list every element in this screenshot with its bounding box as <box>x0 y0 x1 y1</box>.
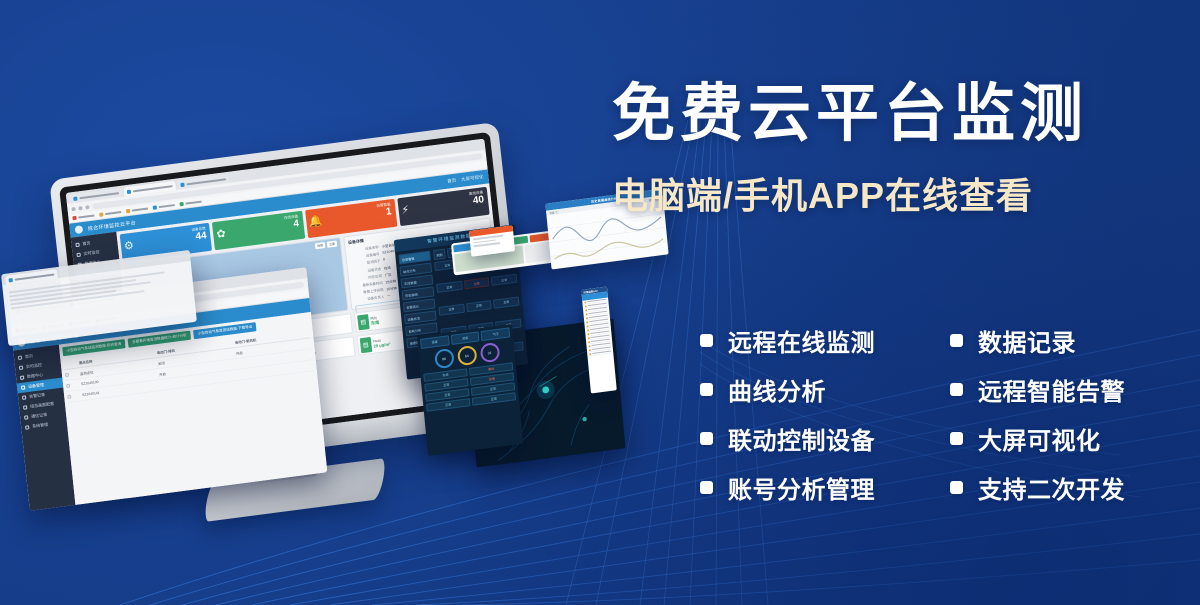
status-cell[interactable]: 正常 <box>438 303 464 315</box>
device-value: 东南 <box>371 319 380 326</box>
detail-value: 8 <box>383 258 385 263</box>
bookmark-item[interactable] <box>153 203 175 210</box>
sidebar-item-label: 实时监控 <box>26 362 42 370</box>
sidebar-item-label: 首页 <box>25 353 34 360</box>
tab-favicon-icon <box>73 196 77 200</box>
bullet-icon <box>700 432 713 445</box>
detail-value: — <box>387 293 391 298</box>
feature-label: 支持二次开发 <box>978 470 1125 505</box>
bookmark-item[interactable] <box>99 210 121 217</box>
map-toolbar[interactable]: 地图 卫星 <box>315 240 338 249</box>
stat-card-value: 1 <box>377 207 392 219</box>
row-checkbox[interactable] <box>65 373 69 377</box>
feature-item-curve-analysis: 曲线分析 <box>700 372 950 407</box>
device-mockup-scene: 综合环境监控云平台 首页 大屏可视化 首页 实时监控 <box>0 0 660 605</box>
bullet-icon <box>700 481 713 494</box>
gauge-status-grid: 在线 离线 正常 告警 正常 正常 正常 正常 <box>423 362 516 411</box>
status-cell[interactable]: 正常 <box>466 300 492 312</box>
status-cell[interactable]: 正常 <box>491 274 517 286</box>
feature-item-linkage-control: 联动控制设备 <box>700 421 950 456</box>
feature-item-data-logging: 数据记录 <box>950 323 1150 358</box>
leaf-icon: ✿ <box>216 228 226 241</box>
gauge-panel[interactable]: 温度 湿度 气压 86 64 31 在线 离线 正常 告警 正常 正常 正常 正… <box>417 324 524 456</box>
gauge-value: 64 <box>459 347 475 364</box>
bullet-icon <box>950 334 963 347</box>
map-mode-button[interactable]: 地图 <box>315 242 326 249</box>
tab-title-placeholder <box>186 178 226 185</box>
plug-icon: ⚡ <box>401 204 410 217</box>
refresh-button[interactable]: 刷新 <box>433 249 446 261</box>
feature-item-remote-alarm: 远程智能告警 <box>950 372 1150 407</box>
gauge-value: 31 <box>481 344 497 361</box>
database-icon <box>20 375 24 379</box>
feature-label: 曲线分析 <box>728 372 826 407</box>
row-checkbox[interactable] <box>67 395 71 399</box>
bookmark-item[interactable] <box>126 207 148 214</box>
sidebar-item-label: 系统管理 <box>32 422 48 430</box>
device-icon <box>21 385 25 389</box>
page-subtitle: 电脑端/手机APP在线查看 <box>612 167 1178 219</box>
gauge-tab[interactable]: 温度 <box>420 335 449 349</box>
bell-icon <box>22 395 26 399</box>
tab-title-placeholder <box>15 273 55 280</box>
sensor-icon: ▤ <box>357 314 370 330</box>
sidebar-item-label: 通信记录 <box>31 412 47 420</box>
tab-favicon-icon <box>127 189 131 193</box>
layout-icon <box>23 405 27 409</box>
feature-label: 大屏可视化 <box>978 421 1101 456</box>
bell-icon: 🔔 <box>308 215 323 229</box>
feature-item-account-management: 账号分析管理 <box>700 470 950 505</box>
stat-card-value: 44 <box>192 231 207 243</box>
feature-label: 账号分析管理 <box>728 470 875 505</box>
stat-card-value: 4 <box>284 219 299 231</box>
feature-label: 联动控制设备 <box>728 421 875 456</box>
forward-icon[interactable] <box>78 205 82 209</box>
feature-item-remote-monitoring: 远程在线监测 <box>700 323 950 358</box>
gauge-ring: 64 <box>456 345 477 366</box>
tab-title-placeholder <box>133 185 173 192</box>
home-icon <box>75 243 79 247</box>
log-icon <box>24 415 28 419</box>
status-cell-alarm[interactable]: 告警 <box>464 278 490 290</box>
feature-item-bigscreen-visualization: 大屏可视化 <box>950 421 1150 456</box>
bullet-icon <box>950 432 963 445</box>
feature-item-secondary-development: 支持二次开发 <box>950 470 1150 505</box>
gauge-tab[interactable]: 湿度 <box>450 331 479 345</box>
status-cell[interactable]: 正常 <box>436 281 462 293</box>
back-icon[interactable] <box>71 206 75 210</box>
bullet-icon <box>700 334 713 347</box>
tab-favicon-icon <box>8 277 12 281</box>
feature-list: 远程在线监测 数据记录 曲线分析 远程智能告警 联动控制设备 大屏可视化 账号分… <box>700 316 1150 512</box>
page-title: 免费云平台监测 <box>612 82 1178 146</box>
sensor-icon: ▤ <box>359 336 372 352</box>
mobile-app-list[interactable] <box>582 297 613 356</box>
sidebar-item-label: 首页 <box>82 240 91 247</box>
bookmark-item[interactable] <box>72 214 94 221</box>
cloud-icon <box>74 225 83 234</box>
detail-value: 25分钟 <box>385 278 396 284</box>
bookmark-item[interactable] <box>179 200 201 207</box>
app-nav-home[interactable]: 首页 <box>447 178 457 185</box>
tab-title-placeholder <box>79 192 119 199</box>
detail-value: 在线 <box>384 264 391 270</box>
app-nav-bigscreen[interactable]: 大屏可视化 <box>461 174 484 183</box>
sidebar-item-label: 实时监控 <box>83 249 100 257</box>
feature-label: 数据记录 <box>978 323 1076 358</box>
feature-label: 远程智能告警 <box>978 372 1125 407</box>
status-cell[interactable]: 正常 <box>493 296 519 308</box>
device-icon: ⚙ <box>123 240 134 253</box>
bullet-icon <box>700 383 713 396</box>
feature-label: 远程在线监测 <box>728 323 875 358</box>
detail-value: 厂区 <box>384 271 391 277</box>
hero-copy: 免费云平台监测 电脑端/手机APP在线查看 <box>612 82 1178 219</box>
tab-favicon-icon <box>180 182 184 186</box>
sidebar-item-label: 数据中心 <box>27 372 43 380</box>
gauge-value: 86 <box>436 350 452 367</box>
monitor-icon <box>19 365 23 369</box>
detail-value: 10分钟 <box>386 285 397 291</box>
gear-icon <box>25 425 29 429</box>
reload-icon[interactable] <box>85 205 89 209</box>
gauge-ring: 31 <box>479 342 500 363</box>
bullet-icon <box>950 383 963 396</box>
stat-card-value: 40 <box>469 195 484 207</box>
bullet-icon <box>950 481 963 494</box>
home-icon <box>18 356 22 360</box>
map-layer-button[interactable]: 卫星 <box>327 240 338 247</box>
sidebar-item-label: 设备管理 <box>28 382 44 390</box>
gauge-tab[interactable]: 气压 <box>481 327 510 341</box>
row-checkbox[interactable] <box>66 384 70 388</box>
monitor-icon <box>76 253 80 257</box>
gauge-ring: 86 <box>434 348 455 369</box>
sidebar-item-label: 告警记录 <box>29 392 45 400</box>
